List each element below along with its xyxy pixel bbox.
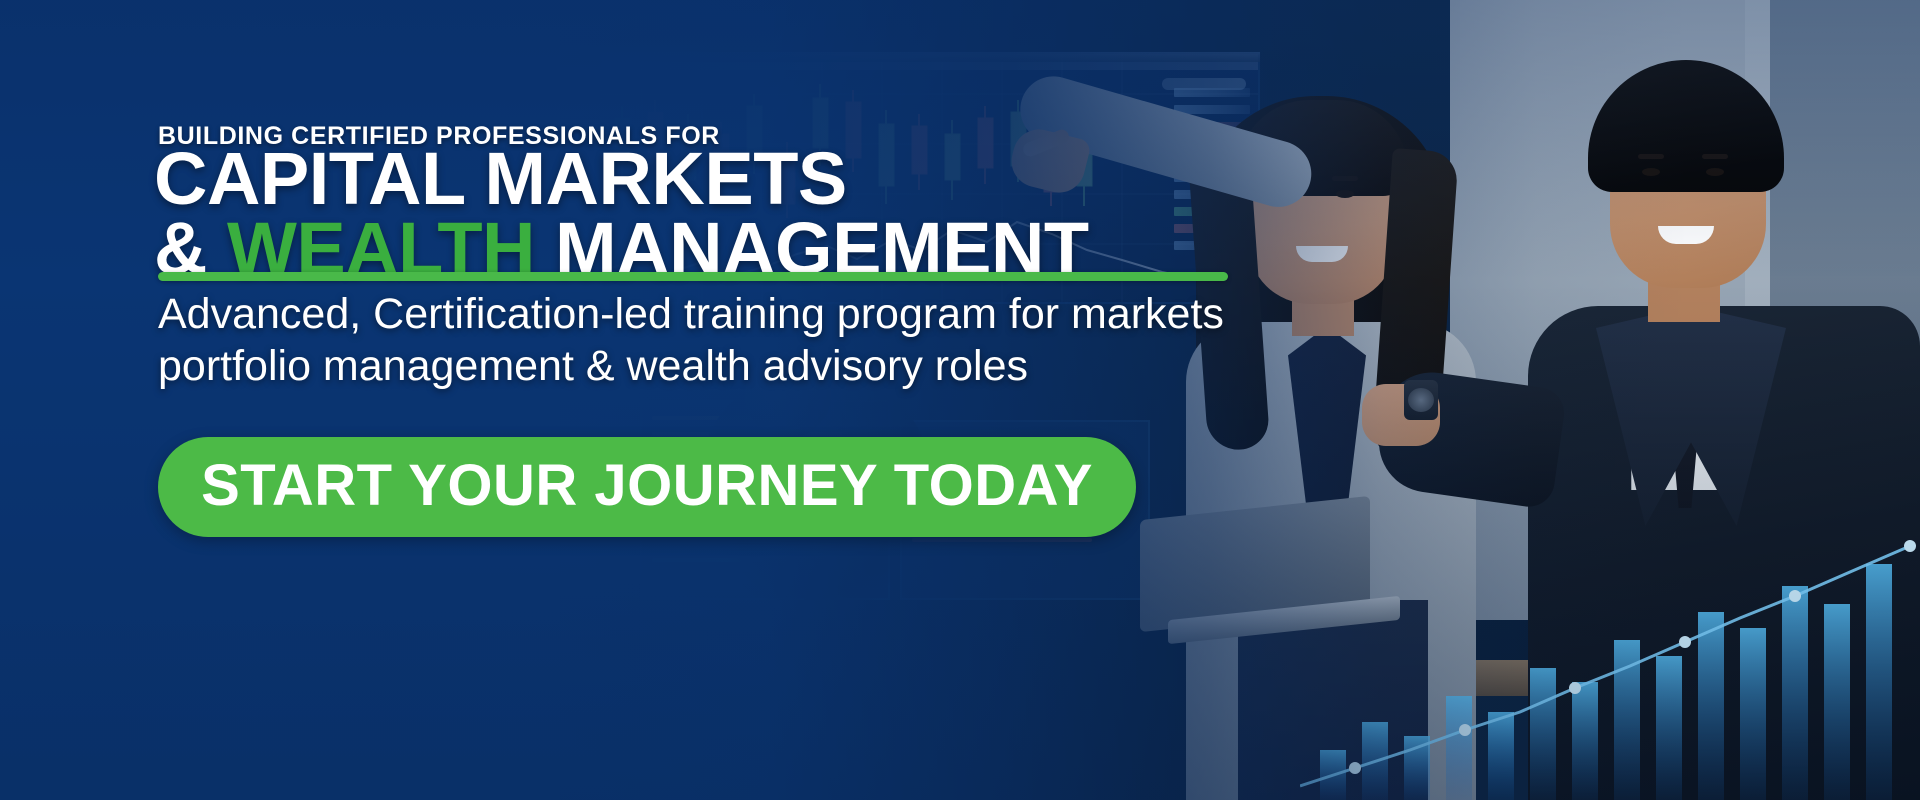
subtitle-line-1: Advanced, Certification-led training pro… [158,288,1268,340]
promo-banner: BUILDING CERTIFIED PROFESSIONALS FOR CAP… [0,0,1920,800]
page-title: CAPITAL MARKETS & WEALTH MANAGEMENT [154,144,1089,283]
green-divider [158,272,1228,281]
start-journey-button[interactable]: START YOUR JOURNEY TODAY [158,437,1136,537]
banner-content: BUILDING CERTIFIED PROFESSIONALS FOR CAP… [158,0,1358,800]
subtitle-line-2: portfolio management & wealth advisory r… [158,340,1268,392]
subtitle: Advanced, Certification-led training pro… [158,288,1268,393]
